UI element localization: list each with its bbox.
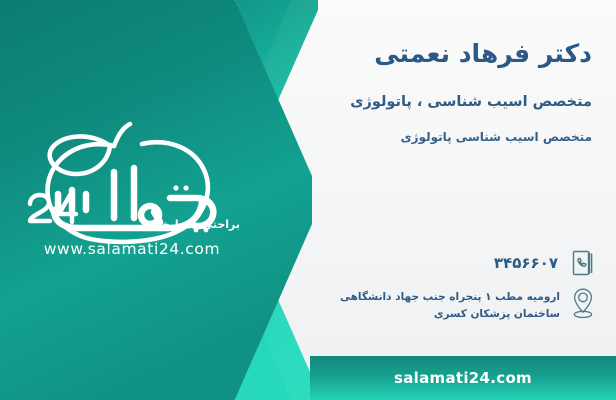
phone-row: ۳۴۵۶۶۰۷ [494, 246, 598, 280]
phone-number[interactable]: ۳۴۵۶۶۰۷ [494, 254, 558, 272]
address-text: ارومیه مطب ١ پنجراه جنب جهاد دانشگاهی سا… [315, 286, 560, 323]
logo-tagline: براحتی یک لبخند [40, 218, 240, 231]
address-row: ارومیه مطب ١ پنجراه جنب جهاد دانشگاهی سا… [308, 286, 598, 323]
footer-website[interactable]: salamati24.com [394, 369, 532, 387]
footer-bar: salamati24.com [310, 356, 616, 400]
location-pin-icon [568, 286, 598, 320]
doctor-name: دکتر فرهاد نعمتی [232, 38, 592, 69]
phonebook-icon [568, 246, 598, 280]
specialty-secondary: متخصص اسیب شناسی پاتولوژی [232, 129, 592, 146]
business-card: براحتی یک لبخند www.salamati24.com دکتر … [0, 0, 616, 400]
brand-logo: براحتی یک لبخند www.salamati24.com [18, 118, 246, 278]
specialty-primary: متخصص اسیب شناسی ، پاتولوژی [232, 92, 592, 112]
logo-website: www.salamati24.com [18, 240, 246, 258]
